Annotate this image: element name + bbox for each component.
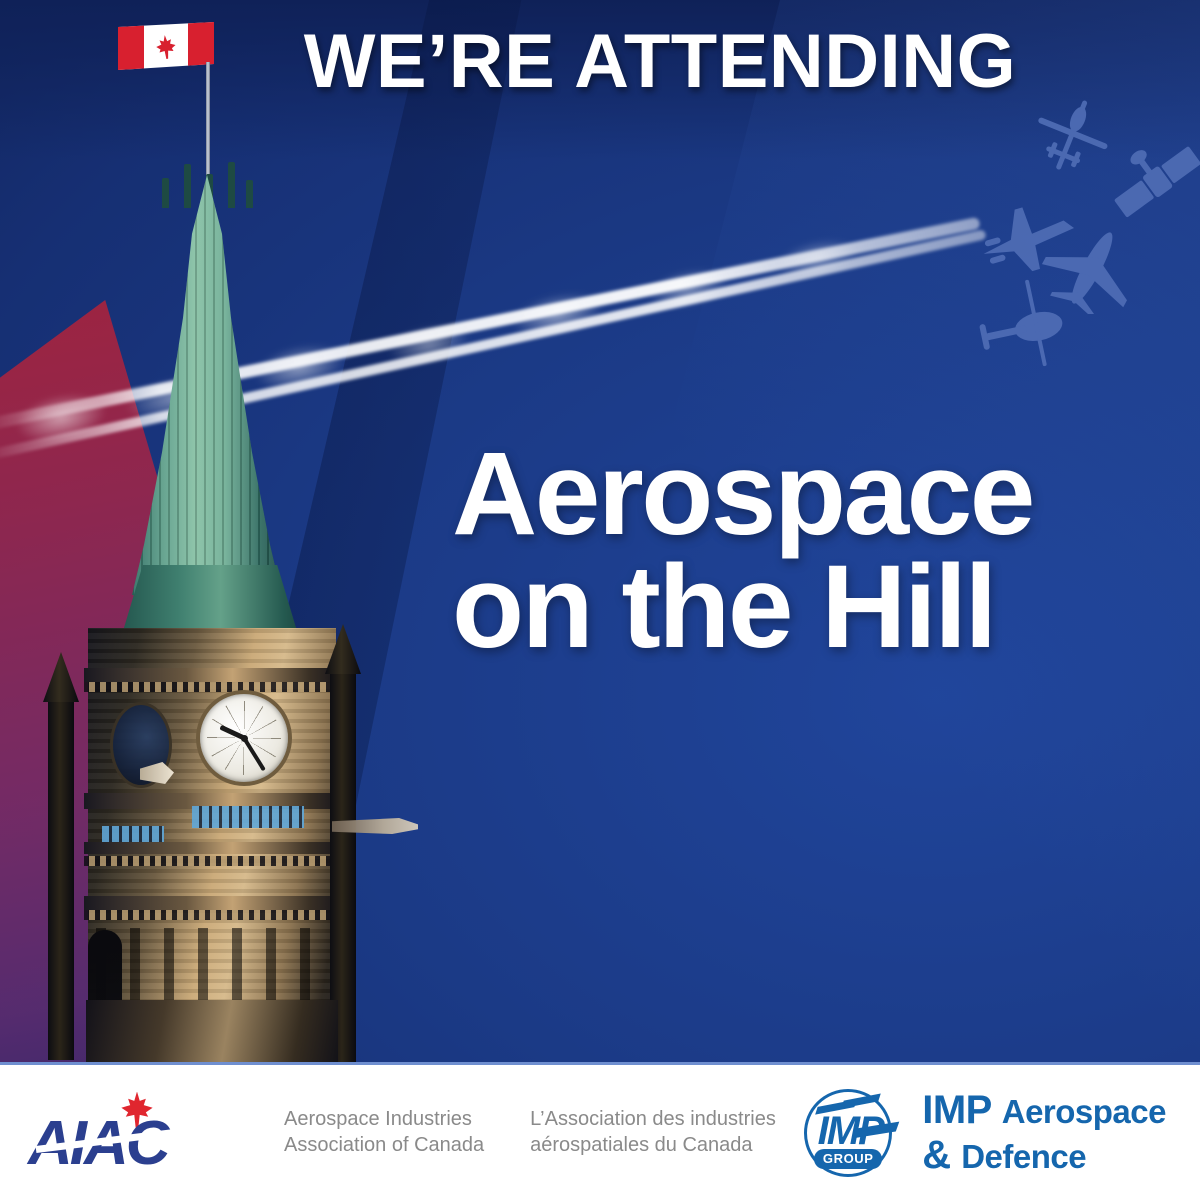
cornice	[84, 668, 340, 682]
uav-drone-icon	[1028, 92, 1114, 184]
imp-mark-letters: IMP	[804, 1111, 896, 1151]
imp-line2-smallcaps: Defence	[961, 1138, 1086, 1175]
dentil-band	[84, 910, 340, 920]
aiac-descriptor-english: Aerospace Industries Association of Cana…	[284, 1107, 484, 1158]
aiac-descriptor: Aerospace Industries Association of Cana…	[284, 1107, 776, 1158]
clock-center-pin	[241, 735, 248, 742]
aiac-en-line2: Association of Canada	[284, 1134, 484, 1156]
imp-wordmark-line-2: & Defence	[922, 1133, 1166, 1178]
aiac-en-line1: Aerospace Industries	[284, 1108, 472, 1130]
kicker-headline: WE’RE ATTENDING	[0, 18, 1200, 105]
imp-line1-smallcaps: Aerospace	[1002, 1093, 1166, 1130]
imp-mark-banner: GROUP	[814, 1149, 882, 1169]
tower-copper-spire	[132, 175, 282, 595]
event-title-line-1: Aerospace	[452, 428, 1033, 560]
dentil-band	[84, 682, 340, 692]
aiac-logo[interactable]: AIAC	[28, 1090, 240, 1176]
cornice	[84, 896, 340, 910]
clock-minute-hand	[242, 737, 266, 771]
imp-group-mark: IMP GROUP	[796, 1081, 900, 1185]
imp-wordmark: IMP Aerospace & Defence	[922, 1088, 1166, 1178]
aiac-logo-block[interactable]: AIAC Aerospace Industries Association of…	[0, 1090, 776, 1176]
peace-tower	[0, 0, 430, 1063]
poster-canvas: WE’RE ATTENDING Aerospace on the Hill AI…	[0, 0, 1200, 1200]
blue-window-band	[192, 806, 304, 828]
tower-crown	[105, 565, 315, 635]
aiac-fr-line2: aérospatiales du Canada	[530, 1134, 752, 1156]
cornice	[84, 842, 340, 854]
imp-line1-bold: IMP	[922, 1088, 1002, 1132]
event-title: Aerospace on the Hill	[452, 438, 1152, 665]
aiac-fr-line1: L’Association des industries	[530, 1108, 776, 1130]
aiac-descriptor-french: L’Association des industries aérospatial…	[530, 1107, 776, 1158]
dentil-band	[84, 856, 340, 866]
aircraft-silhouette-cluster	[970, 90, 1200, 380]
imp-wordmark-line-1: IMP Aerospace	[922, 1088, 1166, 1133]
helicopter-icon	[976, 276, 1086, 372]
clock-face	[196, 690, 292, 786]
satellite-icon	[1110, 140, 1200, 226]
footer-logo-bar: AIAC Aerospace Industries Association of…	[0, 1065, 1200, 1200]
imp-line2-bold: &	[922, 1133, 961, 1177]
tower-clock-block	[88, 628, 336, 1063]
event-title-line-2: on the Hill	[452, 551, 1152, 664]
imp-logo-block[interactable]: IMP GROUP IMP Aerospace & Defence	[796, 1081, 1200, 1185]
corner-turret-left	[48, 700, 74, 1060]
